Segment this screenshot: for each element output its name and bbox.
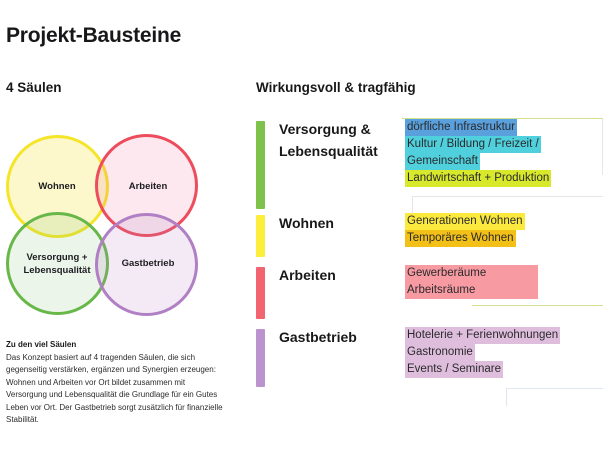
pillar-name-arbeiten-line1: Arbeiten xyxy=(279,264,405,286)
pillar-item: Gastronomie xyxy=(405,344,475,361)
venn-label-wohnen: Wohnen xyxy=(7,180,107,193)
pillar-row-gastbetrieb: Gastbetrieb Hotelerie + Ferienwohnungen … xyxy=(256,326,603,392)
pillar-name-versorgung: Versorgung & Lebensqualität xyxy=(265,118,405,162)
left-column-heading: 4 Säulen xyxy=(6,80,62,95)
right-column-heading: Wirkungsvoll & tragfähig xyxy=(256,80,416,95)
pillar-item: Temporäres Wohnen xyxy=(405,230,516,247)
footnote-body: Das Konzept basiert auf 4 tragenden Säul… xyxy=(6,352,228,426)
pillar-item: Arbeitsräume xyxy=(405,282,538,299)
pillar-items-versorgung: dörfliche Infrastruktur Kultur / Bildung… xyxy=(405,118,603,187)
pillar-color-bar-gastbetrieb xyxy=(256,329,265,387)
pillar-color-bar-arbeiten xyxy=(256,267,265,319)
footnote: Zu den viel Säulen Das Konzept basiert a… xyxy=(6,340,228,426)
pillar-list: Versorgung & Lebensqualität dörfliche In… xyxy=(256,118,603,392)
pillar-items-arbeiten: Gewerberäume Arbeitsräume xyxy=(405,264,603,299)
venn-label-arbeiten: Arbeiten xyxy=(98,180,198,193)
pillar-name-versorgung-line2: Lebensqualität xyxy=(279,140,405,162)
venn-label-gastbetrieb: Gastbetrieb xyxy=(98,257,198,270)
pillar-item: Events / Seminare xyxy=(405,361,503,378)
pillar-name-arbeiten: Arbeiten xyxy=(265,264,405,286)
pillar-name-wohnen: Wohnen xyxy=(265,212,405,234)
pillar-row-arbeiten: Arbeiten Gewerberäume Arbeitsräume xyxy=(256,264,603,326)
pillar-name-wohnen-line1: Wohnen xyxy=(279,212,405,234)
pillar-item: Kultur / Bildung / Freizeit / xyxy=(405,136,541,153)
pillar-name-gastbetrieb-line1: Gastbetrieb xyxy=(279,326,405,348)
pillar-name-gastbetrieb: Gastbetrieb xyxy=(265,326,405,348)
venn-diagram: Wohnen Arbeiten Versorgung + Lebensquali… xyxy=(0,125,245,330)
pillar-name-versorgung-line1: Versorgung & xyxy=(279,118,405,140)
pillar-row-versorgung: Versorgung & Lebensqualität dörfliche In… xyxy=(256,118,603,212)
venn-label-versorgung: Versorgung + Lebensqualität xyxy=(7,251,107,277)
pillar-item: Gemeinschaft xyxy=(405,153,480,170)
pillar-row-wohnen: Wohnen Generationen Wohnen Temporäres Wo… xyxy=(256,212,603,264)
pillar-color-bar-versorgung xyxy=(256,121,265,209)
footnote-title: Zu den viel Säulen xyxy=(6,340,228,349)
pillar-item: Generationen Wohnen xyxy=(405,213,525,230)
pillar-item: Hotelerie + Ferienwohnungen xyxy=(405,327,560,344)
venn-label-versorgung-line2: Lebensqualität xyxy=(23,265,90,276)
pillar-items-gastbetrieb: Hotelerie + Ferienwohnungen Gastronomie … xyxy=(405,326,603,378)
pillar-item: dörfliche Infrastruktur xyxy=(405,119,517,136)
page-title: Projekt-Bausteine xyxy=(6,24,181,48)
pillar-color-bar-wohnen xyxy=(256,215,265,257)
pillar-items-wohnen: Generationen Wohnen Temporäres Wohnen xyxy=(405,212,603,247)
venn-label-versorgung-line1: Versorgung + xyxy=(27,252,88,263)
pillar-item: Landwirtschaft + Produktion xyxy=(405,170,551,187)
pillar-item: Gewerberäume xyxy=(405,265,538,282)
